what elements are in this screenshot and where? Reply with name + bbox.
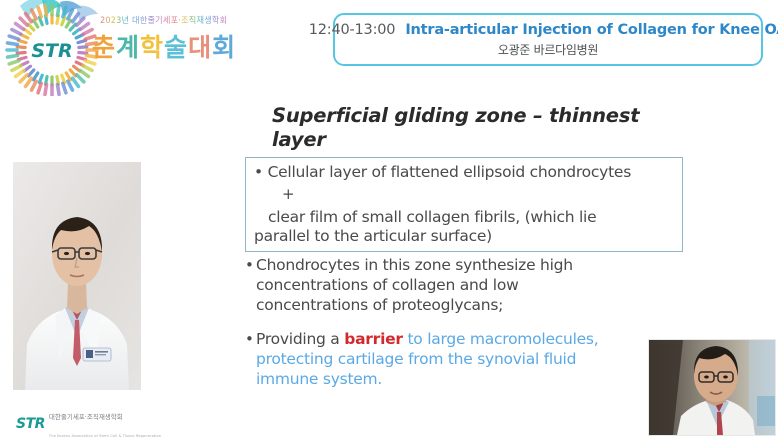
presentation-slide-view: STR 2023년 대한줄기세포·조직재생학회 춘계학술대회 12:40-13:…: [0, 0, 778, 438]
speaker-portrait-image: [13, 162, 141, 390]
bullet-2-line-1: • Chondrocytes in this zone synthesize h…: [245, 256, 685, 276]
boxed-bullet-block: • Cellular layer of flattened ellipsoid …: [245, 157, 683, 252]
bullet-2-line-2: concentrations of collagen and low: [245, 276, 685, 296]
boxed-bullet-line-3: parallel to the articular surface): [254, 227, 674, 246]
bullet-3-text-2: protecting cartilage from the synovial f…: [256, 350, 576, 370]
session-speaker: 오광준 바르다임병원: [498, 41, 598, 58]
bullet-2-text-2: concentrations of collagen and low: [256, 276, 519, 296]
bullet-3-line-1: • Providing a barrier to large macromole…: [245, 330, 665, 350]
bullet-3-text-1: Providing a barrier to large macromolecu…: [256, 330, 598, 350]
conference-title-kr: 춘계학술대회: [92, 28, 272, 64]
conference-subtitle: 2023년 대한줄기세포·조직재생학회: [100, 14, 265, 26]
bullet-block-3: • Providing a barrier to large macromole…: [245, 330, 665, 389]
bullet-3-text-prefix: Providing a: [256, 330, 344, 348]
bullet-3-text-3: immune system.: [256, 370, 382, 390]
footer-logo: STR 대한줄기세포·조직재생학회 The Korean Association…: [16, 406, 161, 442]
conference-title-block: 2023년 대한줄기세포·조직재생학회 춘계학술대회: [92, 14, 272, 64]
speaker-webcam-thumbnail[interactable]: [648, 339, 776, 436]
radial-burst-logo-icon: STR: [2, 0, 102, 96]
bullet-3-marker: •: [245, 330, 256, 350]
footer-org-block: 대한줄기세포·조직재생학회 The Korean Association of …: [49, 406, 161, 442]
footer-str-logo-text: STR: [16, 416, 45, 432]
bullet-2-line-3: concentrations of proteoglycans;: [245, 296, 685, 316]
boxed-bullet-line-2: clear film of small collagen fibrils, (w…: [268, 208, 674, 227]
footer-org-en: The Korean Association of Stem Cell & Ti…: [49, 434, 161, 438]
bullet-2-marker: •: [245, 256, 256, 276]
footer-org-kr: 대한줄기세포·조직재생학회: [49, 413, 123, 421]
webcam-video-frame: [649, 340, 775, 435]
boxed-bullet-plus: +: [282, 185, 674, 203]
bullet-3-line-2: protecting cartilage from the synovial f…: [245, 350, 665, 370]
session-title: Intra-articular Injection of Collagen fo…: [405, 22, 778, 38]
speaker-portrait: [13, 162, 141, 390]
svg-text:STR: STR: [31, 40, 72, 62]
bullet-2-text-3: concentrations of proteoglycans;: [256, 296, 503, 316]
session-banner: 12:40-13:00 Intra-articular Injection of…: [333, 13, 763, 66]
bullet-3-line-3: immune system.: [245, 370, 665, 390]
conference-logo: STR: [2, 0, 102, 96]
bullet-3-text-suffix: to large macromolecules,: [403, 330, 599, 348]
slide-title: Superficial gliding zone – thinnest laye…: [272, 104, 672, 152]
bullet-3-highlight: barrier: [344, 330, 403, 348]
bullet-2-text-1: Chondrocytes in this zone synthesize hig…: [256, 256, 573, 276]
bullet-block-2: • Chondrocytes in this zone synthesize h…: [245, 256, 685, 315]
coat-badge-icon: [83, 348, 111, 361]
session-time: 12:40-13:00: [309, 22, 396, 38]
session-banner-line: 12:40-13:00 Intra-articular Injection of…: [309, 22, 778, 38]
boxed-bullet-line-1: • Cellular layer of flattened ellipsoid …: [254, 163, 674, 182]
